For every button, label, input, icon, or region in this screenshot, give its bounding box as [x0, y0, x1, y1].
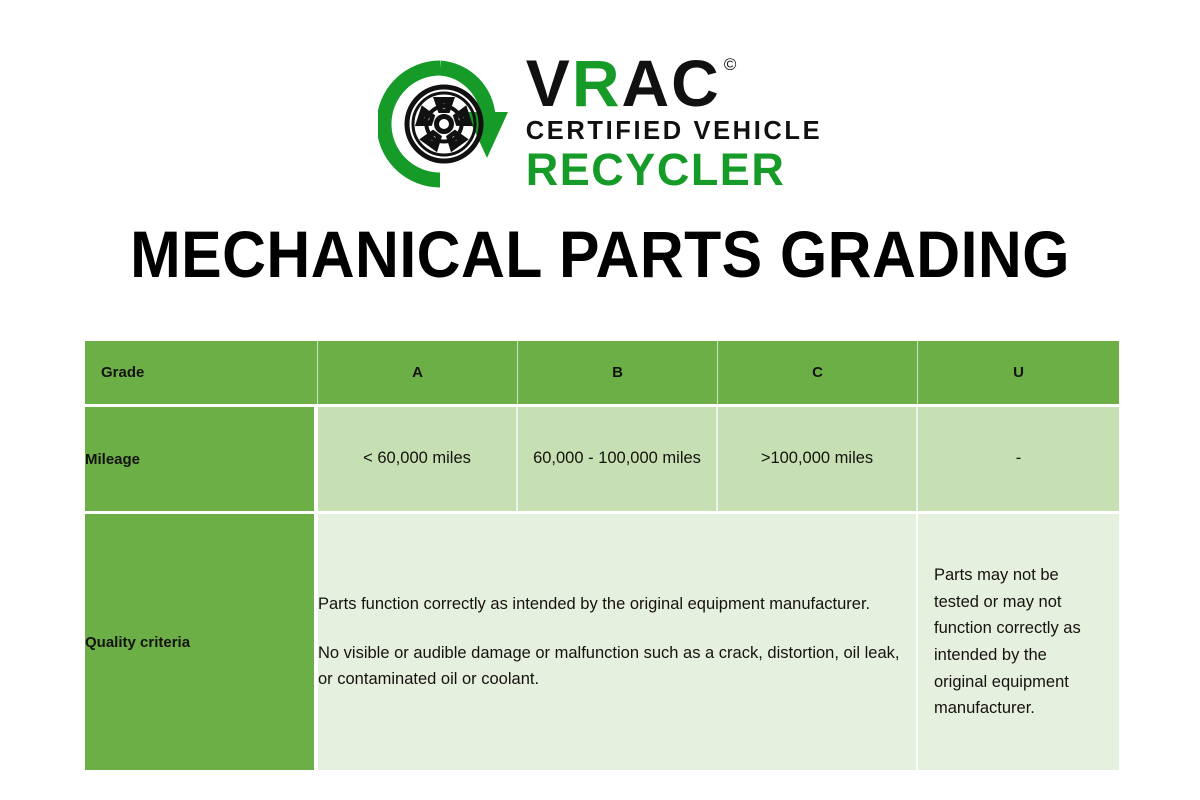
- header-cell-u: U: [918, 341, 1119, 404]
- mechanical-parts-grading-table: Grade A B C U Mileage < 60,000 miles 60,…: [85, 341, 1119, 770]
- table-header-row: Grade A B C U: [85, 341, 1119, 404]
- logo-vrac-text: VRAC©: [526, 52, 822, 115]
- table-row-quality-criteria: Quality criteria Parts function correctl…: [85, 514, 1119, 770]
- row-label-mileage: Mileage: [85, 407, 318, 511]
- quality-criteria-paragraph-2: No visible or audible damage or malfunct…: [318, 640, 916, 693]
- page-title: MECHANICAL PARTS GRADING: [48, 216, 1152, 292]
- logo-wordmark: VRAC© CERTIFIED VEHICLE RECYCLER: [526, 52, 822, 196]
- vrac-logo: VRAC© CERTIFIED VEHICLE RECYCLER: [0, 48, 1200, 200]
- copyright-icon: ©: [724, 56, 739, 73]
- header-cell-b: B: [518, 341, 718, 404]
- header-cell-a: A: [318, 341, 518, 404]
- logo-recycler-text: RECYCLER: [526, 147, 822, 192]
- mileage-cell-c: >100,000 miles: [718, 407, 918, 511]
- logo-vrac-v: V: [526, 52, 572, 115]
- quality-criteria-cell-abc: Parts function correctly as intended by …: [318, 514, 918, 770]
- logo-vrac-ac: AC: [622, 52, 721, 115]
- quality-criteria-cell-u: Parts may not be tested or may not funct…: [918, 514, 1119, 770]
- mileage-cell-u: -: [918, 407, 1119, 511]
- table-row-mileage: Mileage < 60,000 miles 60,000 - 100,000 …: [85, 407, 1119, 511]
- logo-inner: VRAC© CERTIFIED VEHICLE RECYCLER: [378, 52, 822, 196]
- mileage-cell-a: < 60,000 miles: [318, 407, 518, 511]
- recycling-wheel-icon: [378, 54, 518, 194]
- logo-tagline: CERTIFIED VEHICLE: [526, 119, 822, 145]
- logo-vrac-r: R: [572, 52, 622, 115]
- header-cell-c: C: [718, 341, 918, 404]
- mileage-cell-b: 60,000 - 100,000 miles: [518, 407, 718, 511]
- row-label-quality-criteria: Quality criteria: [85, 514, 318, 770]
- quality-criteria-paragraph-1: Parts function correctly as intended by …: [318, 591, 916, 618]
- header-cell-grade: Grade: [85, 341, 318, 404]
- quality-criteria-u-paragraph: Parts may not be tested or may not funct…: [934, 562, 1099, 722]
